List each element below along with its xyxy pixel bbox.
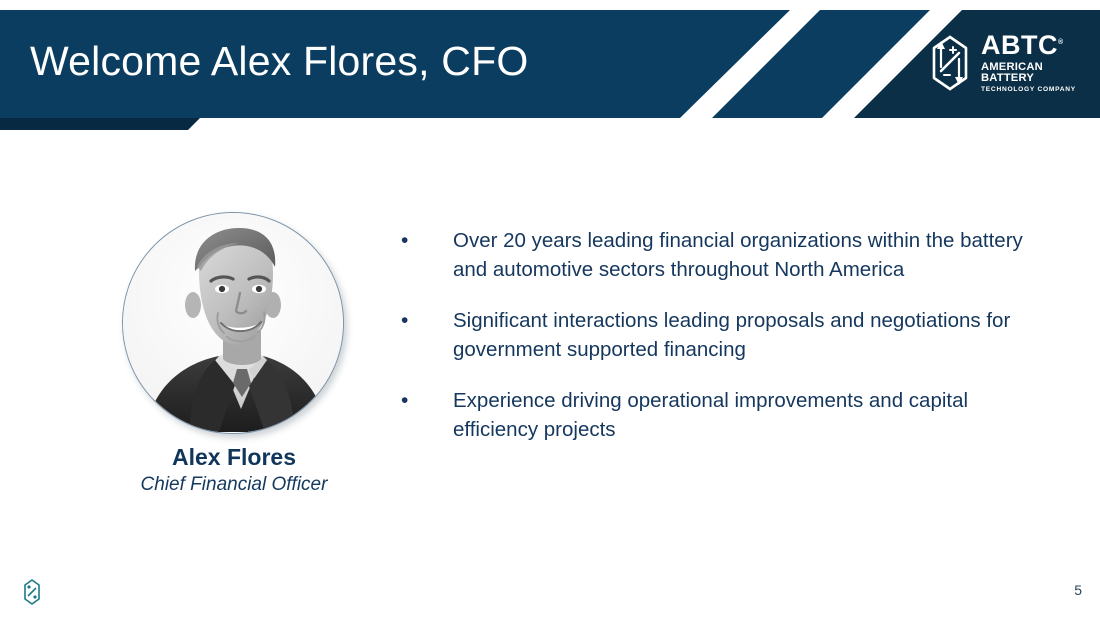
bullet-marker-icon: •: [396, 306, 453, 335]
logo-tagline-secondary: TECHNOLOGY COMPANY: [981, 87, 1076, 94]
profile-photo-container: [122, 212, 344, 434]
slide: Welcome Alex Flores, CFO: [0, 0, 1100, 619]
list-item: • Significant interactions leading propo…: [396, 306, 1036, 364]
abtc-hexagon-mark-icon: [22, 578, 42, 606]
page-title: Welcome Alex Flores, CFO: [30, 38, 528, 85]
abtc-hexagon-battery-icon: [928, 33, 972, 93]
page-number: 5: [1074, 582, 1082, 598]
bullet-text: Over 20 years leading financial organiza…: [453, 226, 1036, 284]
profile-name: Alex Flores: [64, 444, 404, 471]
bullet-list: • Over 20 years leading financial organi…: [396, 226, 1036, 444]
logo-abtc-text: ABTC®: [981, 32, 1064, 59]
avatar: [123, 213, 343, 433]
abtc-logo: ABTC® AMERICAN BATTERY TECHNOLOGY COMPAN…: [928, 27, 1078, 99]
profile-job-title: Chief Financial Officer: [64, 474, 404, 496]
list-item: • Experience driving operational improve…: [396, 386, 1036, 444]
bullet-text: Experience driving operational improveme…: [453, 386, 1036, 444]
bullet-marker-icon: •: [396, 386, 453, 415]
list-item: • Over 20 years leading financial organi…: [396, 226, 1036, 284]
registered-trademark-icon: ®: [1058, 39, 1064, 46]
bullet-marker-icon: •: [396, 226, 453, 255]
avatar-frame: [122, 212, 344, 434]
bullet-text: Significant interactions leading proposa…: [453, 306, 1036, 364]
slide-header: Welcome Alex Flores, CFO: [0, 0, 1100, 132]
logo-wordmark: ABTC® AMERICAN BATTERY TECHNOLOGY COMPAN…: [981, 32, 1078, 94]
logo-tagline-primary: AMERICAN BATTERY: [981, 62, 1078, 84]
